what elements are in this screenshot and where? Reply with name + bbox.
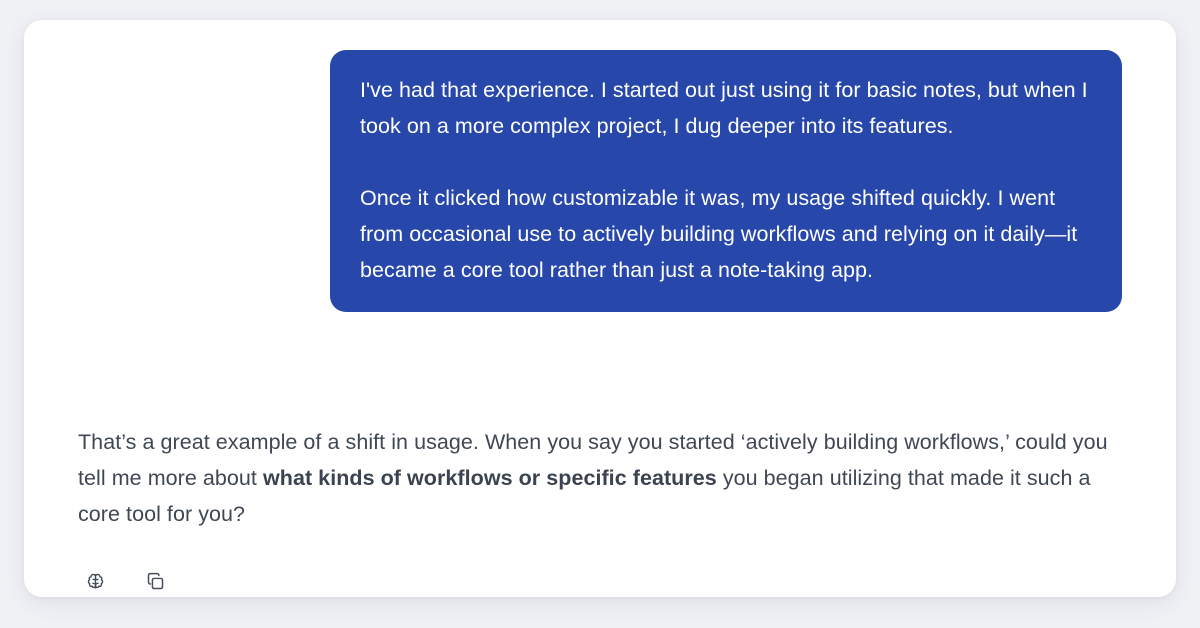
assistant-message: That’s a great example of a shift in usa… [78,424,1118,532]
user-message-bubble: I've had that experience. I started out … [330,50,1122,312]
chat-card: I've had that experience. I started out … [24,20,1176,597]
user-message-row: I've had that experience. I started out … [24,50,1176,312]
copy-icon [145,571,166,592]
message-action-bar [76,563,174,597]
brain-icon [85,571,106,592]
assistant-message-text: That’s a great example of a shift in usa… [78,424,1118,532]
user-message-paragraph-2: Once it clicked how customizable it was,… [360,180,1092,288]
user-message-paragraph-1: I've had that experience. I started out … [360,72,1092,144]
assistant-text-emphasis: what kinds of workflows or specific feat… [263,466,717,490]
brain-button[interactable] [76,563,114,597]
copy-button[interactable] [136,563,174,597]
